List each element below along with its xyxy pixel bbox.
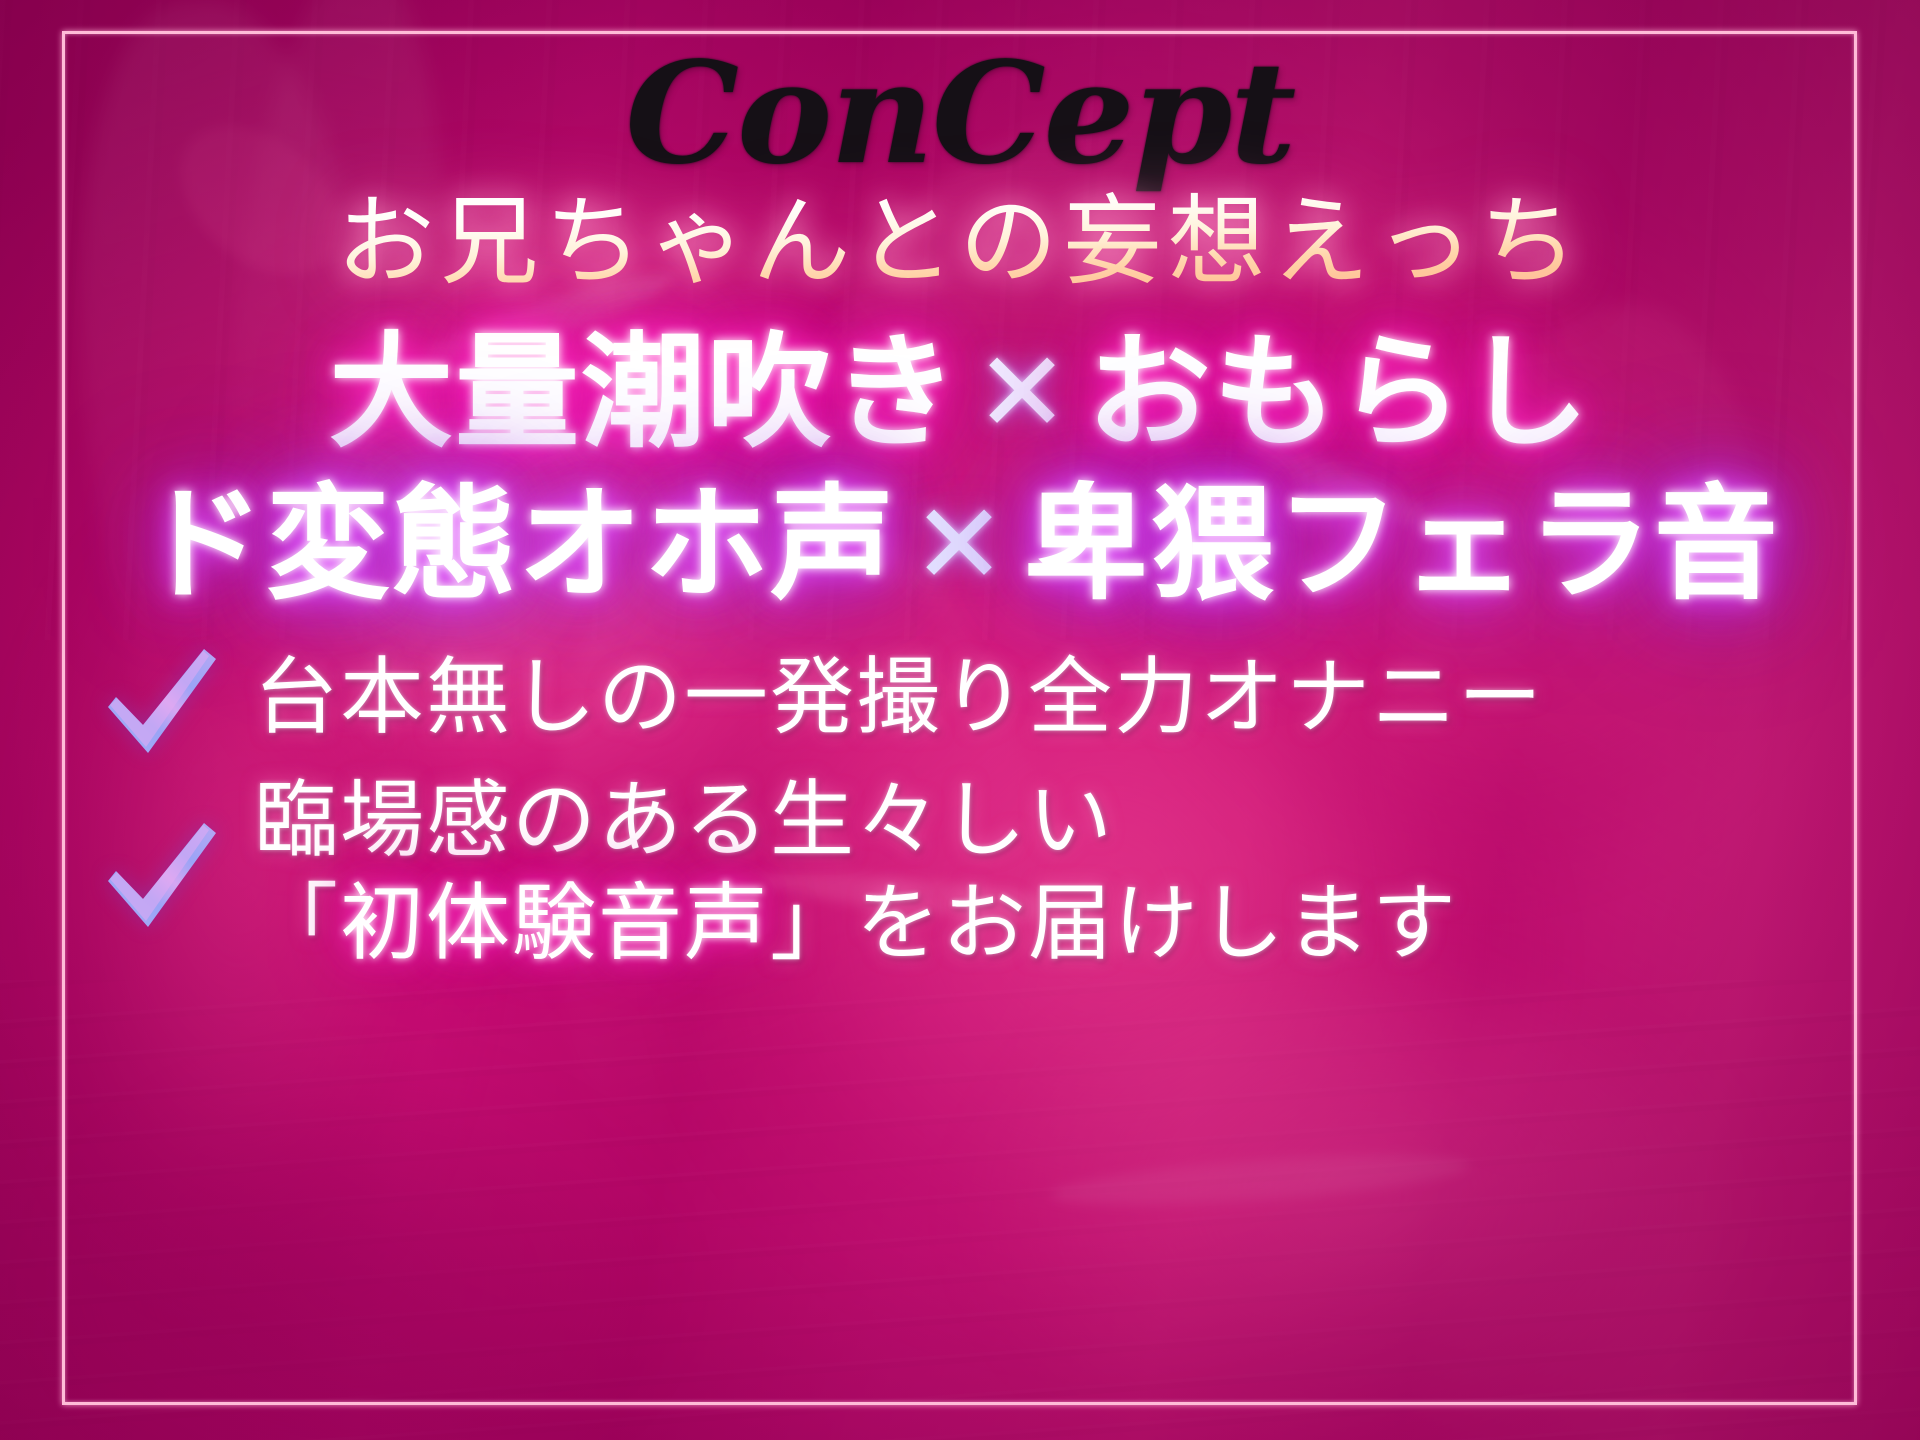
check-mark-icon [96,635,228,761]
list-item-line-2: 「初体験音声」をお届けします [254,874,1458,973]
spec-1-left: 大量潮吹き [329,330,959,456]
subtitle-text: お兄ちゃんとの妄想えっち [336,190,1583,296]
list-item-label: 台本無しの一発撮り全力オナニー [254,648,1544,747]
spec-2-left: ド変態オホ声 [140,482,896,608]
highlighted-phrase: 初体験音声 [340,874,770,972]
list-item: 臨場感のある生々しい 「初体験音声」をお届けします [96,771,1920,973]
check-mark-icon [96,809,228,935]
feature-checklist: 台本無しの一発撮り全力オナニー [0,635,1920,983]
list-item: 台本無しの一発撮り全力オナニー [96,635,1920,761]
list-item-line-1: 臨場感のある生々しい [254,771,1114,869]
list-item-label: 臨場感のある生々しい 「初体験音声」をお届けします [254,771,1458,973]
content-container: ConCept お兄ちゃんとの妄想えっち 大量潮吹き ✕ おもらし ド変態オホ声… [0,0,1920,1440]
quote-open: 「 [254,874,340,972]
spec-1-right: おもらし [1087,330,1591,456]
spec-line-2: ド変態オホ声 ✕ 卑猥フェラ音 [140,482,1780,608]
page-title: ConCept [626,44,1295,184]
spec-line-1: 大量潮吹き ✕ おもらし [329,330,1591,456]
banner-canvas: ConCept お兄ちゃんとの妄想えっち 大量潮吹き ✕ おもらし ド変態オホ声… [0,0,1920,1440]
quote-close-and-tail: 」をお届けします [770,874,1458,972]
spec-2-right: 卑猥フェラ音 [1024,482,1780,608]
cross-separator-icon: ✕ [975,336,1071,450]
cross-separator-icon: ✕ [912,488,1008,602]
